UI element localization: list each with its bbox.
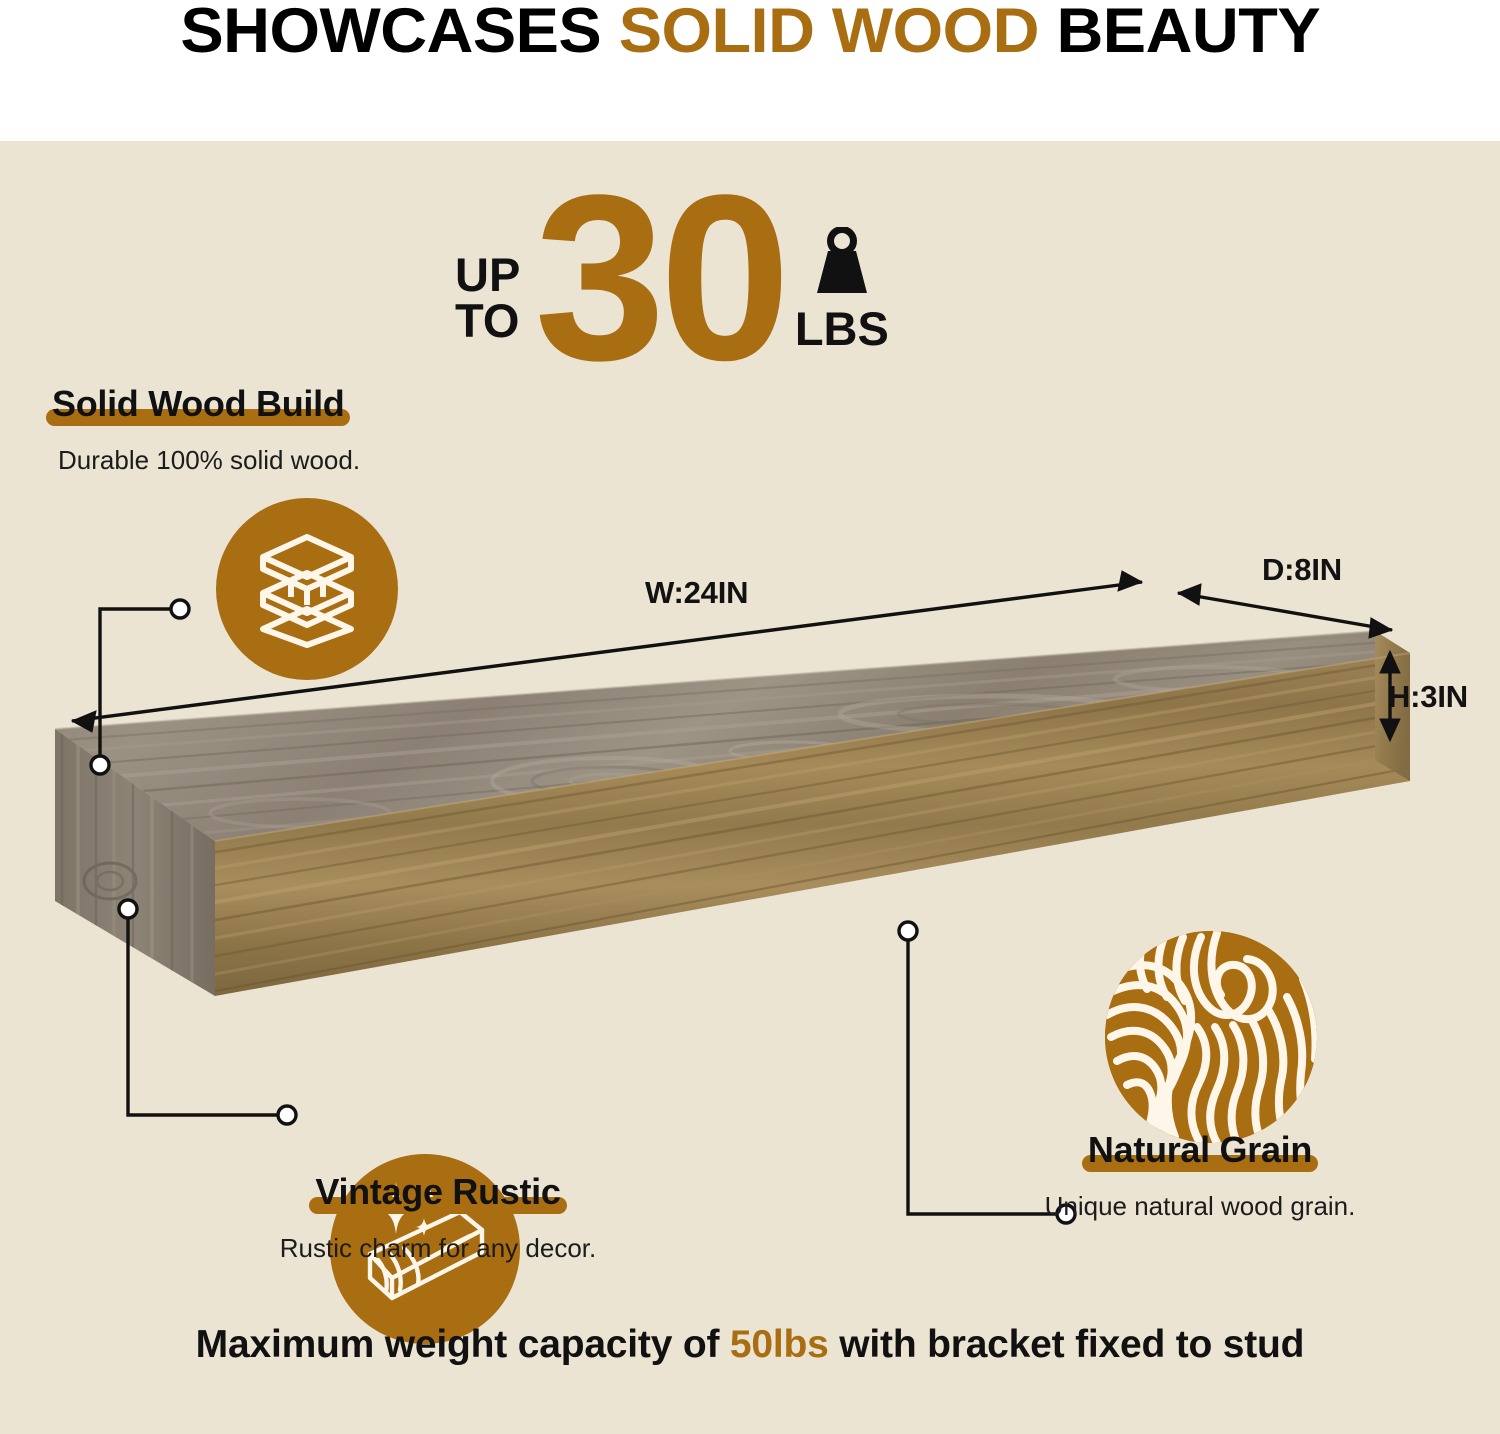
feature-vintage-rustic: Vintage Rustic Rustic charm for any deco… (272, 1171, 604, 1264)
feature-subtitle-grain: Unique natural wood grain. (1040, 1191, 1360, 1222)
title-part-2: BEAUTY (1039, 0, 1320, 66)
lbs-label: LBS (795, 305, 889, 352)
callout-dot-solid-anchor (91, 756, 109, 774)
lbs-group: LBS (795, 227, 889, 352)
title-highlight: SOLID WOOD (618, 0, 1038, 66)
tagline-highlight: 50lbs (730, 1323, 829, 1366)
callout-dot-vintage-end (278, 1106, 296, 1124)
tagline-before: Maximum weight capacity of (196, 1323, 730, 1366)
layered-wood-stack-icon (216, 498, 398, 680)
feature-title-text: Solid Wood Build (52, 383, 344, 424)
infographic-canvas: UP TO 30 LBS Solid Wood Build Durable (0, 141, 1500, 1434)
tagline-after: with bracket fixed to stud (829, 1323, 1305, 1366)
feature-title-solid-wood: Solid Wood Build (46, 383, 350, 427)
feature-subtitle-vintage: Rustic charm for any decor. (272, 1233, 604, 1264)
feature-title-text: Natural Grain (1088, 1129, 1312, 1170)
feature-natural-grain: Natural Grain Unique natural wood grain. (1040, 1129, 1360, 1222)
leader-line-vintage (128, 910, 288, 1115)
up-to-label: UP TO (455, 252, 520, 344)
weight-capacity-badge: UP TO 30 LBS (455, 186, 889, 364)
capacity-value: 30 (534, 186, 785, 370)
feature-solid-wood-build: Solid Wood Build Durable 100% solid wood… (46, 383, 360, 476)
callout-dots (91, 600, 1075, 1223)
header-band: SHOWCASES SOLID WOOD BEAUTY (0, 0, 1500, 141)
infographic-page: SHOWCASES SOLID WOOD BEAUTY (0, 0, 1500, 1434)
depth-arrow (1178, 584, 1392, 638)
callout-leader-lines (100, 609, 1065, 1214)
footer-tagline: Maximum weight capacity of 50lbs with br… (0, 1323, 1500, 1367)
page-title: SHOWCASES SOLID WOOD BEAUTY (180, 0, 1320, 64)
callout-dot-solid-end (171, 600, 189, 618)
feature-subtitle-solid-wood: Durable 100% solid wood. (58, 445, 360, 476)
dimension-label-height: H:3IN (1388, 679, 1468, 715)
dimension-label-depth: D:8IN (1262, 552, 1342, 588)
feature-title-text: Vintage Rustic (315, 1171, 560, 1212)
callout-dot-vintage-anchor (119, 900, 137, 918)
callout-dot-grain-anchor (899, 922, 917, 940)
feature-title-grain: Natural Grain (1082, 1129, 1318, 1173)
wood-grain-swirl-icon (1105, 931, 1317, 1143)
dimension-label-width: W:24IN (645, 575, 748, 611)
feature-title-vintage: Vintage Rustic (309, 1171, 566, 1215)
shelf-left-face (55, 729, 215, 996)
weight-icon (811, 227, 873, 304)
up-word: UP (455, 252, 520, 298)
leader-line-solid-wood (100, 609, 178, 763)
title-part-1: SHOWCASES (180, 0, 618, 66)
to-word: TO (455, 298, 520, 344)
